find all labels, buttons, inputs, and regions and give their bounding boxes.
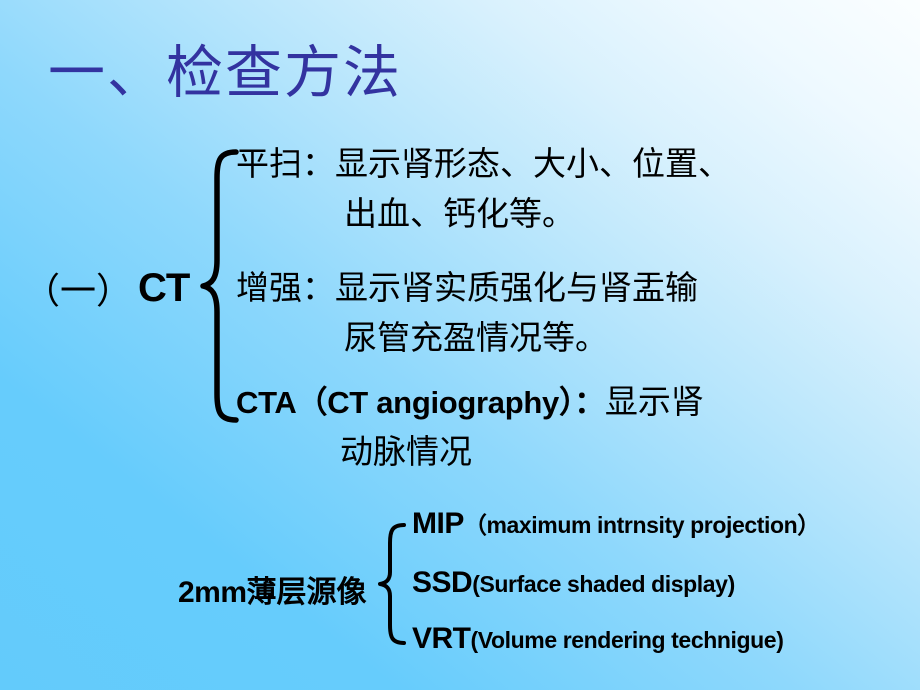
- ct-branch-cta-lead: CTA（CT angiography）：: [236, 385, 605, 420]
- mode-full-ssd: (Surface shaded display): [472, 571, 735, 597]
- thin-slice-label-cn: 薄层源像: [247, 576, 367, 609]
- mode-row-ssd: SSD(Surface shaded display): [412, 566, 735, 600]
- mode-row-mip: MIP（maximum intrnsity projection）: [412, 506, 820, 541]
- ct-branch-enhanced-line2: 尿管充盈情况等。: [236, 314, 698, 364]
- ct-branch-flat-scan: 平扫：显示肾形态、大小、位置、 出血、钙化等。: [236, 140, 731, 240]
- ct-section-abbr: CT: [138, 266, 189, 310]
- ct-branch-flat-scan-line2: 出血、钙化等。: [236, 190, 731, 240]
- ct-section-label: （一）CT: [24, 262, 189, 314]
- ct-branch-cta-tail: 显示肾: [605, 385, 704, 421]
- page-title: 一、检查方法: [48, 44, 402, 104]
- thin-slice-label: 2mm薄层源像: [178, 567, 367, 611]
- thin-slice-thickness: 2mm: [178, 576, 247, 609]
- mode-full-mip: （maximum intrnsity projection）: [464, 512, 820, 538]
- ct-section-number: （一）: [24, 271, 132, 311]
- ct-branch-flat-scan-line1: 平扫：显示肾形态、大小、位置、: [236, 147, 731, 183]
- mode-abbr-ssd: SSD: [412, 566, 472, 599]
- small-curly-brace-icon: [376, 522, 410, 646]
- ct-branch-cta-line2: 动脉情况: [236, 428, 704, 478]
- mode-row-vrt: VRT(Volume rendering technigue): [412, 622, 783, 656]
- mode-abbr-mip: MIP: [412, 507, 464, 540]
- ct-branch-enhanced: 增强：显示肾实质强化与肾盂输 尿管充盈情况等。: [236, 264, 698, 364]
- slide-canvas: 一、检查方法 （一）CT 平扫：显示肾形态、大小、位置、 出血、钙化等。 增强：…: [0, 0, 920, 690]
- ct-branch-cta: CTA（CT angiography）：显示肾 动脉情况: [236, 378, 704, 478]
- mode-abbr-vrt: VRT: [412, 622, 471, 655]
- ct-branch-enhanced-line1: 增强：显示肾实质强化与肾盂输: [236, 271, 698, 307]
- mode-full-vrt: (Volume rendering technigue): [471, 627, 784, 653]
